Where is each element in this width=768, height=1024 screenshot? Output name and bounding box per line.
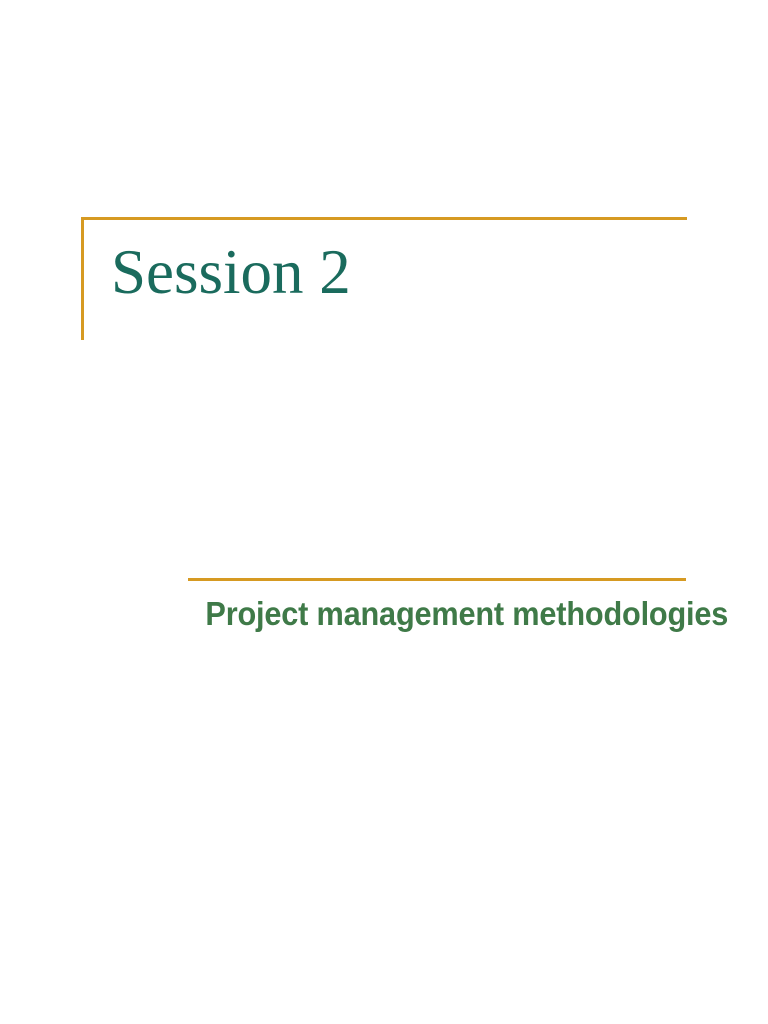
title-block: Session 2 — [81, 217, 687, 343]
page-title: Session 2 — [111, 241, 351, 304]
title-top-rule — [81, 217, 687, 220]
title-left-rule — [81, 217, 84, 340]
subtitle-top-rule — [188, 578, 686, 581]
title-slide: Session 2 Project management methodologi… — [0, 0, 768, 1024]
page-subtitle: Project management methodologies — [205, 597, 668, 632]
